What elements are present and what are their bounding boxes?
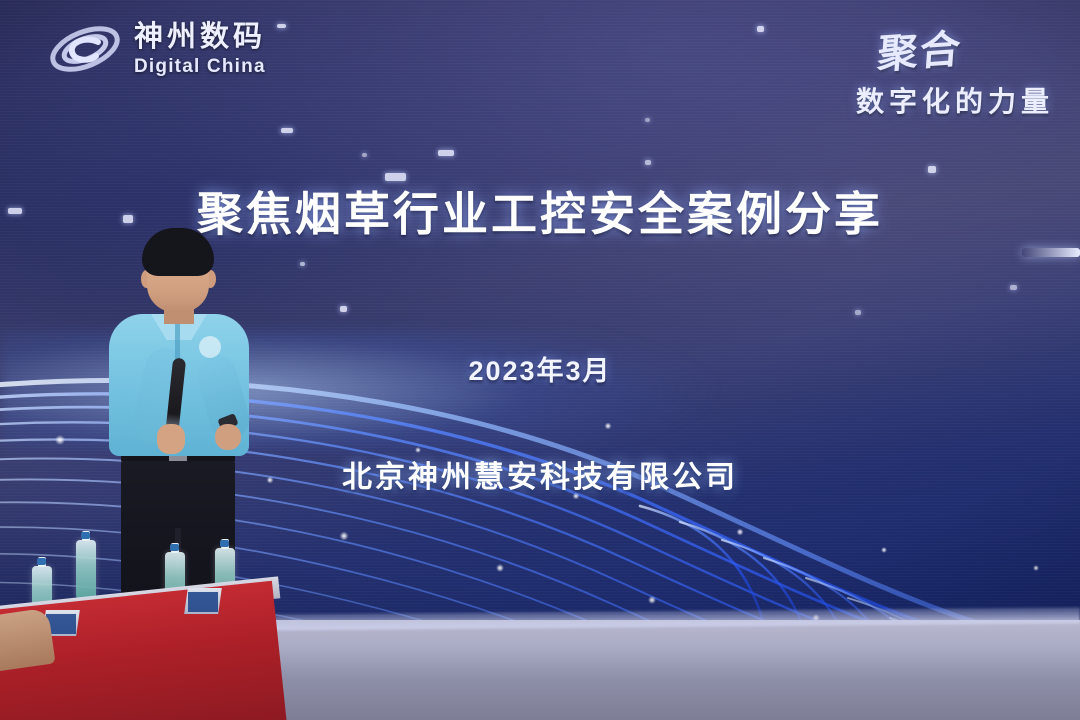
name-card-band bbox=[188, 592, 218, 612]
audience-head-foreground bbox=[0, 608, 56, 673]
conference-stage-photo: 聚焦烟草行业工控安全案例分享 2023年3月 北京神州慧安科技有限公司 神州数码… bbox=[0, 0, 1080, 720]
speaker-shirt-badge bbox=[199, 336, 221, 358]
speaker-hand-holding-clicker bbox=[215, 424, 241, 450]
bottle-cap bbox=[81, 532, 90, 539]
bottle-cap bbox=[170, 544, 179, 551]
bottle-cap bbox=[220, 540, 229, 547]
speaker-hand-holding-mic bbox=[157, 424, 185, 454]
bottle-cap bbox=[37, 558, 46, 565]
water-bottle bbox=[76, 540, 96, 600]
speaker-hair bbox=[142, 228, 214, 276]
